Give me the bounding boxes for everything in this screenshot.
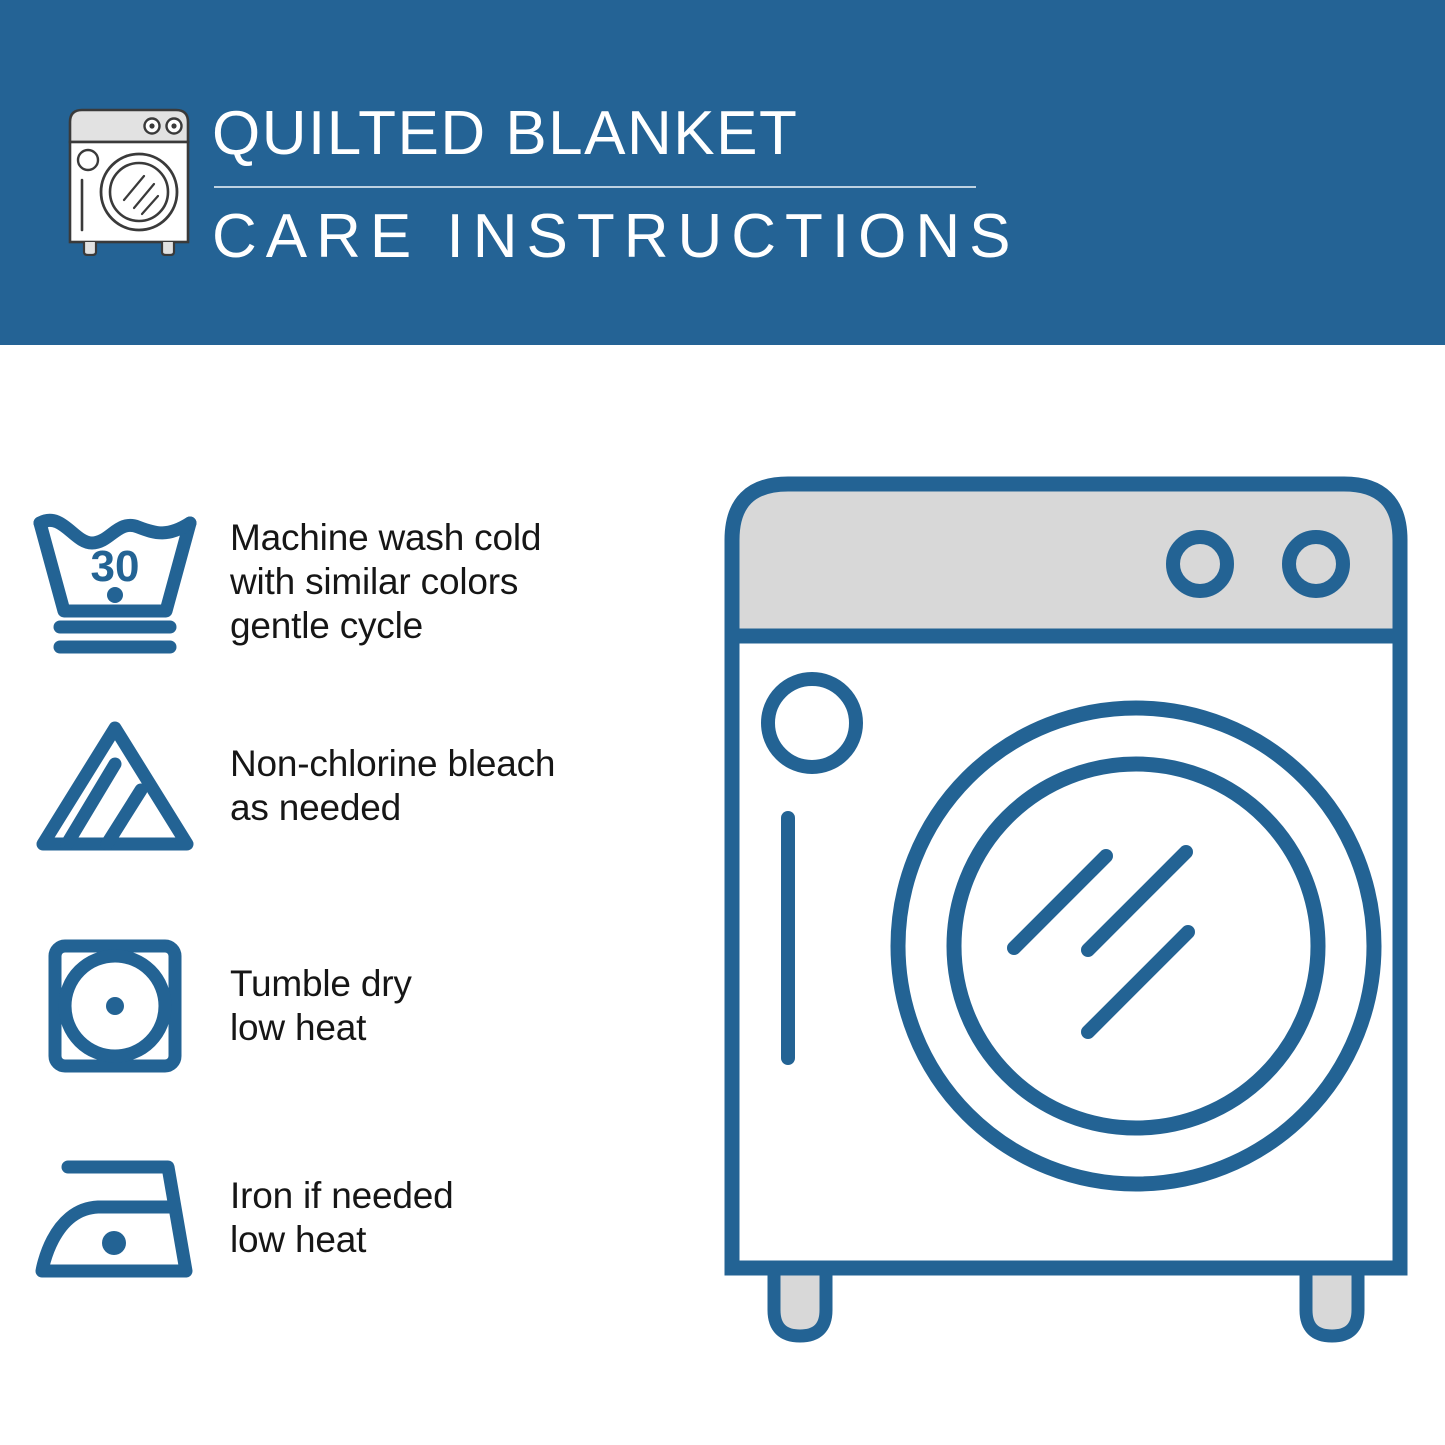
control-panel bbox=[732, 484, 1400, 636]
wash-tub-30-gentle-icon: 30 bbox=[0, 503, 230, 661]
care-instructions-infographic: QUILTED BLANKET CARE INSTRUCTIONS 30 bbox=[0, 0, 1445, 1445]
care-row-iron: Iron if needed low heat bbox=[0, 1135, 700, 1300]
care-row-machine-wash: 30 Machine wash cold with similar colors… bbox=[0, 487, 700, 677]
care-text-iron: Iron if needed low heat bbox=[230, 1174, 453, 1262]
care-text-bleach: Non-chlorine bleach as needed bbox=[230, 742, 555, 830]
care-row-tumble-dry: Tumble dry low heat bbox=[0, 923, 700, 1088]
non-chlorine-bleach-triangle-icon bbox=[0, 716, 230, 856]
header-title-group: QUILTED BLANKET CARE INSTRUCTIONS bbox=[212, 96, 1002, 276]
page-title: QUILTED BLANKET bbox=[212, 96, 1002, 172]
care-row-bleach: Non-chlorine bleach as needed bbox=[0, 703, 700, 868]
front-load-washing-machine-illustration bbox=[716, 468, 1416, 1368]
washing-machine-icon bbox=[64, 104, 194, 256]
care-text-machine-wash: Machine wash cold with similar colors ge… bbox=[230, 516, 541, 648]
tumble-dry-low-icon bbox=[0, 936, 230, 1076]
header-banner: QUILTED BLANKET CARE INSTRUCTIONS bbox=[0, 0, 1445, 345]
title-divider bbox=[214, 186, 976, 188]
wash-temperature-label: 30 bbox=[91, 542, 140, 591]
care-text-tumble-dry: Tumble dry low heat bbox=[230, 962, 412, 1050]
iron-low-heat-icon bbox=[0, 1153, 230, 1283]
care-instruction-list: 30 Machine wash cold with similar colors… bbox=[0, 345, 700, 1445]
page-subtitle: CARE INSTRUCTIONS bbox=[212, 198, 1002, 276]
